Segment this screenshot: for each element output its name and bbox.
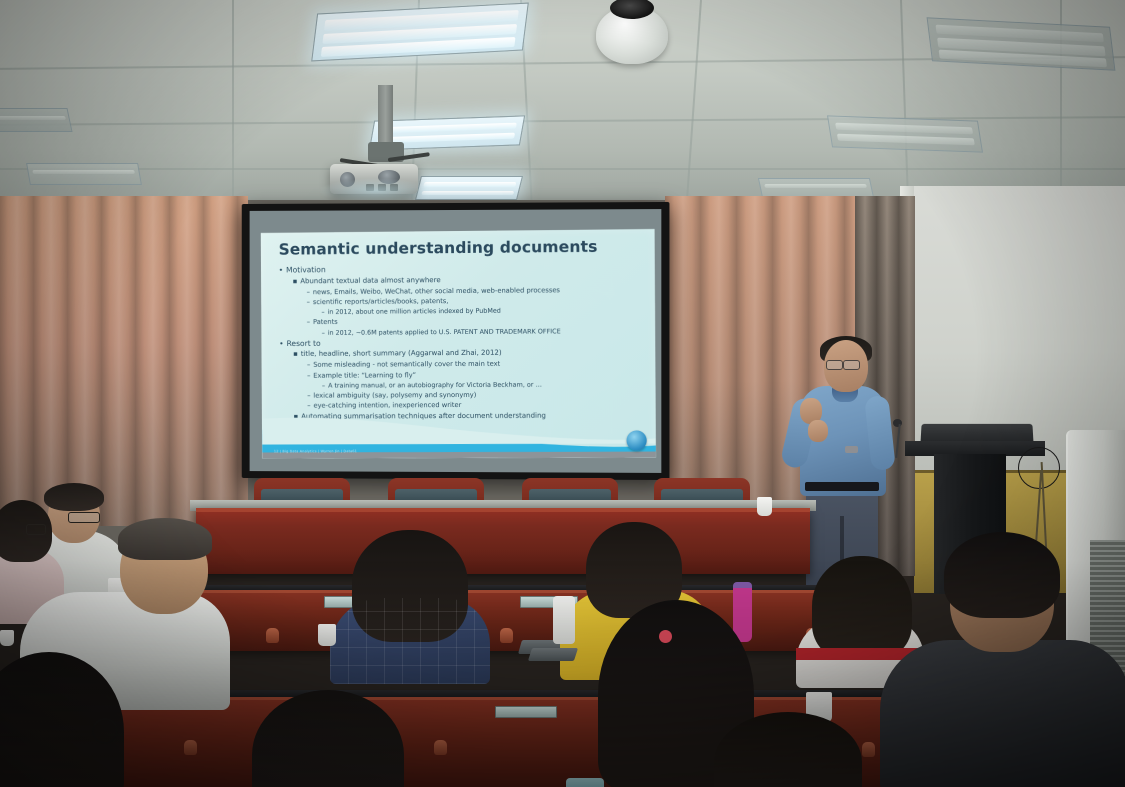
projector-pole xyxy=(378,85,393,147)
laptop-center xyxy=(528,648,578,661)
slide-bullet-marker: ▪ xyxy=(293,277,298,285)
presenter-belt xyxy=(805,482,879,491)
slide-bullet-text: Patents xyxy=(313,318,338,326)
slide-bullet-text: in 2012, ~0.6M patents applied to U.S. P… xyxy=(328,327,561,336)
slide-bullet-marker: – xyxy=(321,308,324,316)
lecture-hall-photo: Semantic understanding documents •Motiva… xyxy=(0,0,1125,787)
curtain-left xyxy=(0,196,248,526)
slide-bullet-text: title, headline, short summary (Aggarwal… xyxy=(301,349,502,358)
cup-mid-1 xyxy=(318,624,336,646)
ceiling-light-6 xyxy=(927,17,1116,70)
bench-knob-r3-b xyxy=(434,740,447,755)
ceiling-dome-camera xyxy=(596,6,668,64)
slide-bullet-text: Motivation xyxy=(286,265,326,274)
slide-bullet-marker: • xyxy=(279,339,283,348)
cup-front-right xyxy=(566,778,604,787)
ceiling-light-8 xyxy=(758,178,874,198)
slide-bullet-text: lexical ambiguity (say, polysemy and syn… xyxy=(313,391,476,400)
slide-bullet-marker: – xyxy=(322,382,325,390)
presenter-wristwatch xyxy=(845,446,858,453)
ceiling-light-5 xyxy=(26,163,142,185)
presenter-hand-right xyxy=(808,420,828,442)
slide-bullet-marker: – xyxy=(307,361,310,369)
slide-bullet-marker: – xyxy=(307,298,310,306)
head-table xyxy=(196,508,810,574)
bench-knob-r2-a xyxy=(266,628,279,643)
slide-bullet-list: •Motivation▪Abundant textual data almost… xyxy=(275,261,650,422)
slide-bullet-marker: – xyxy=(307,371,310,379)
slide-bullet-marker: – xyxy=(307,318,310,326)
slide-bullet-text: Abundant textual data almost anywhere xyxy=(300,276,440,285)
slide-bullet-text: eye-catching intention, inexperienced wr… xyxy=(313,401,461,410)
presenter-eyeglasses-icon-2 xyxy=(843,360,860,370)
presentation-slide: Semantic understanding documents •Motiva… xyxy=(261,229,656,458)
slide-title: Semantic understanding documents xyxy=(279,237,645,258)
slide-bullet-text: Some misleading - not semantically cover… xyxy=(313,360,500,369)
audience-eyeglasses-icon xyxy=(68,512,100,523)
camera-lens-icon xyxy=(610,0,654,19)
slide-bullet-text: news, Emails, Weibo, WeChat, other socia… xyxy=(313,286,560,296)
ceiling-light-4 xyxy=(0,108,73,132)
bottle-pink xyxy=(733,582,752,642)
slide-logo-icon xyxy=(626,430,646,450)
slide-bullet-marker: – xyxy=(307,402,310,410)
bench-knob-r3-a xyxy=(184,740,197,755)
slide-bullet-text: A training manual, or an autobiography f… xyxy=(328,381,542,390)
ceiling-light-1 xyxy=(311,3,529,62)
slide-bullet-marker: • xyxy=(279,266,283,275)
audience-eyeglasses-icon-3 xyxy=(92,718,118,744)
slide-bullet-text: Example title: “Learning to fly” xyxy=(313,371,416,379)
bench-knob-r3-c xyxy=(862,742,875,757)
slide-bullet-marker: – xyxy=(307,392,310,400)
slide-bullet-text: scientific reports/articles/books, paten… xyxy=(313,297,449,306)
slide-bullet-marker: ▪ xyxy=(293,350,298,358)
ceiling-light-7 xyxy=(827,115,983,152)
slide-bullet-marker: – xyxy=(307,288,310,296)
slide-bullet-text: in 2012, about one million articles inde… xyxy=(328,307,501,316)
screen-surface: Semantic understanding documents •Motiva… xyxy=(250,209,662,473)
cup-left-edge xyxy=(0,630,14,646)
audience-hair-tie xyxy=(659,630,672,643)
cup-thermos-white xyxy=(553,596,575,644)
audience-jacket-check-pattern xyxy=(330,598,490,684)
nameplate-r3-a xyxy=(495,706,557,718)
projection-screen: Semantic understanding documents •Motiva… xyxy=(242,202,670,480)
slide-bullet-text: Resort to xyxy=(287,339,321,348)
slide-bullet-marker: – xyxy=(322,329,325,337)
slide-footer-text: 12 | Big Data Analytics | Warren Jin | D… xyxy=(274,449,357,453)
cup-head-table xyxy=(757,497,772,516)
audience-eyeglasses-icon-2 xyxy=(26,524,46,535)
bench-knob-r2-b xyxy=(500,628,513,643)
ceiling xyxy=(0,0,1125,215)
presenter-eyeglasses-icon xyxy=(826,360,843,370)
